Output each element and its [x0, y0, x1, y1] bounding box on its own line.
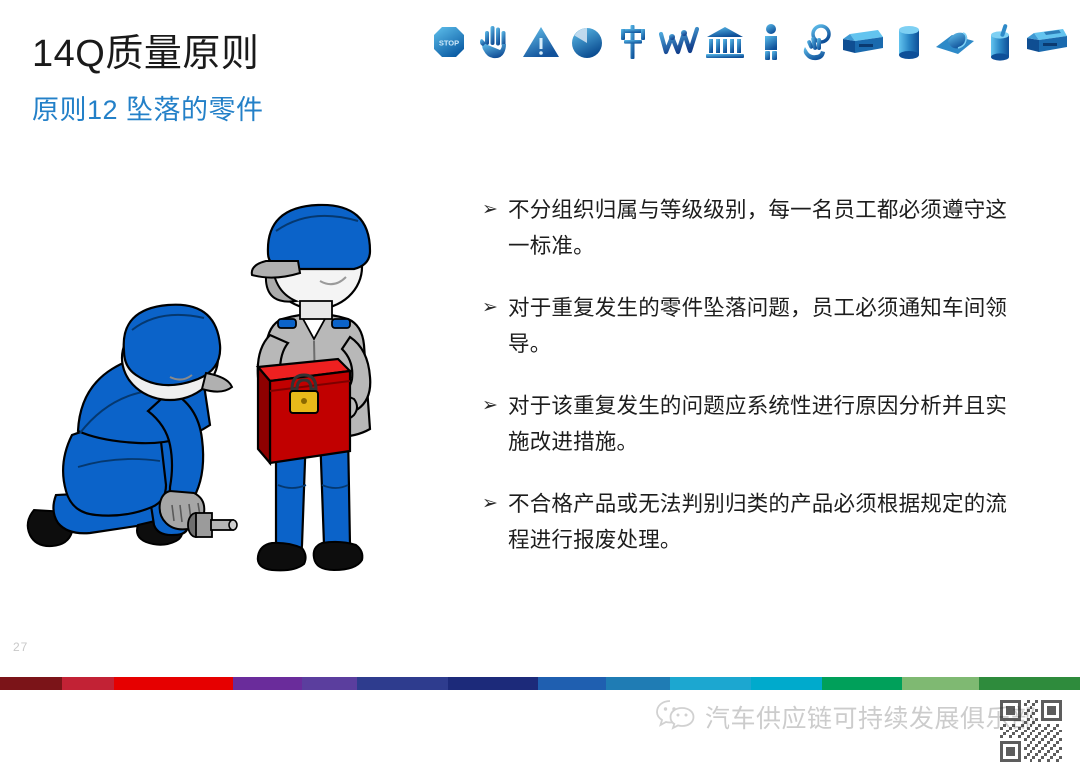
kneeling-worker — [28, 305, 232, 546]
caliper-icon — [612, 19, 654, 65]
page-title: 14Q质量原则 — [32, 22, 259, 77]
color-bar-segment — [448, 677, 538, 690]
dropped-bolt — [188, 513, 237, 537]
cylinder-icon — [888, 19, 930, 65]
bullet-text: 不分组织归属与等级级别，每一名员工都必须遵守这一标准。 — [508, 192, 1027, 264]
quality-principle-icon-strip: STOP — [428, 16, 1068, 68]
list-item: ➢ 不合格产品或无法判别归类的产品必须根据规定的流程进行报废处理。 — [482, 486, 1027, 558]
scoop-sheet-icon — [934, 19, 976, 65]
bullet-text: 对于该重复发生的问题应系统性进行原因分析并且实施改进措施。 — [508, 388, 1027, 460]
dropped-parts-illustration — [20, 195, 460, 585]
page-number: 27 — [13, 640, 28, 654]
color-bar-segment — [822, 677, 903, 690]
color-bar-segment — [62, 677, 114, 690]
w-chart-icon — [658, 19, 700, 65]
person-icon — [750, 19, 792, 65]
color-bar-segment — [0, 677, 62, 690]
list-item: ➢ 对于重复发生的零件坠落问题，员工必须通知车间领导。 — [482, 290, 1027, 362]
bullet-arrow-icon: ➢ — [482, 192, 508, 264]
slide-root: 14Q质量原则 原则12 坠落的零件 STOP — [0, 0, 1080, 764]
bank-building-icon — [704, 19, 746, 65]
list-item: ➢ 不分组织归属与等级级别，每一名员工都必须遵守这一标准。 — [482, 192, 1027, 264]
color-bar-segment — [606, 677, 670, 690]
hand-stop-icon — [474, 19, 516, 65]
bullet-arrow-icon: ➢ — [482, 388, 508, 460]
hand-magnifier-icon — [796, 19, 838, 65]
svg-text:STOP: STOP — [439, 39, 459, 48]
color-bar-segment — [357, 677, 449, 690]
qr-code-icon — [1000, 700, 1062, 762]
footer-color-bar — [0, 677, 1080, 690]
color-bar-segment — [538, 677, 606, 690]
warning-triangle-icon — [520, 19, 562, 65]
color-bar-segment — [902, 677, 979, 690]
page-subtitle: 原则12 坠落的零件 — [32, 88, 264, 127]
watermark: 汽车供应链可持续发展俱乐部 — [655, 697, 1037, 736]
color-bar-segment — [233, 677, 302, 690]
bullet-arrow-icon: ➢ — [482, 486, 508, 558]
pie-chart-icon — [566, 19, 608, 65]
bullet-arrow-icon: ➢ — [482, 290, 508, 362]
box-pallet-icon — [842, 19, 884, 65]
slide-header: 14Q质量原则 原则12 坠落的零件 STOP — [0, 0, 1080, 140]
color-bar-segment — [670, 677, 751, 690]
padlock-icon — [290, 375, 318, 413]
list-item: ➢ 对于该重复发生的问题应系统性进行原因分析并且实施改进措施。 — [482, 388, 1027, 460]
color-bar-segment — [979, 677, 1080, 690]
bullet-text: 不合格产品或无法判别归类的产品必须根据规定的流程进行报废处理。 — [508, 486, 1027, 558]
color-bar-segment — [114, 677, 233, 690]
red-toolbox — [258, 359, 350, 463]
stop-sign-icon: STOP — [428, 19, 470, 65]
color-bar-segment — [302, 677, 357, 690]
tray-box-icon — [1026, 19, 1068, 65]
bullet-text: 对于重复发生的零件坠落问题，员工必须通知车间领导。 — [508, 290, 1027, 362]
bullet-list: ➢ 不分组织归属与等级级别，每一名员工都必须遵守这一标准。 ➢ 对于重复发生的零… — [482, 192, 1027, 558]
wechat-logo-icon — [655, 697, 695, 736]
container-tool-icon — [980, 19, 1022, 65]
color-bar-segment — [751, 677, 822, 690]
watermark-text: 汽车供应链可持续发展俱乐部 — [705, 699, 1037, 735]
